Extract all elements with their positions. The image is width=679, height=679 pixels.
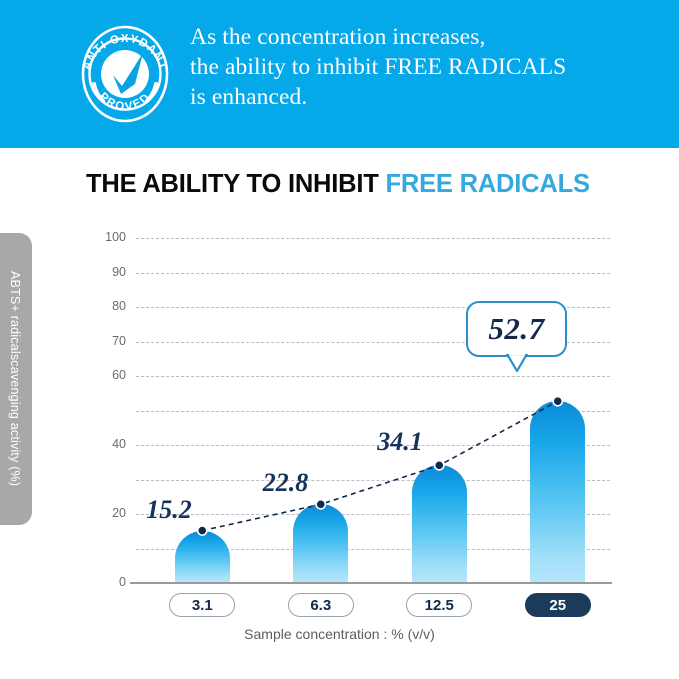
x-category-pill[interactable]: 12.5 (406, 593, 472, 617)
trend-path (202, 401, 558, 530)
x-axis-caption: Sample concentration : % (v/v) (0, 626, 679, 642)
y-tick-label: 90 (86, 265, 126, 279)
x-category-pill[interactable]: 25 (525, 593, 591, 617)
data-point-marker (198, 526, 207, 535)
data-point-marker (316, 500, 325, 509)
chart-title-plain: THE ABILITY TO INHIBIT (86, 170, 379, 198)
y-tick-label: 100 (86, 230, 126, 244)
banner-headline: As the concentration increases, the abil… (190, 22, 660, 112)
y-tick-label: 60 (86, 368, 126, 382)
value-label: 34.1 (377, 427, 423, 457)
callout-tail-icon (506, 354, 528, 372)
y-tick-label: 80 (86, 299, 126, 313)
header-banner: ANTI OXYDANT PROVED As the concentration… (0, 0, 679, 148)
y-axis-ticks: 1009080706040200 (86, 238, 126, 583)
data-point-marker (553, 397, 562, 406)
y-tick-label: 70 (86, 334, 126, 348)
value-label: 22.8 (263, 468, 309, 498)
x-category-pill[interactable]: 3.1 (169, 593, 235, 617)
banner-line-2: the ability to inhibit FREE RADICALS (190, 52, 660, 82)
callout-bubble: 52.7 (466, 301, 567, 357)
y-tick-label: 40 (86, 437, 126, 451)
x-category-pill[interactable]: 6.3 (288, 593, 354, 617)
chart-title-accent: FREE RADICALS (386, 170, 590, 198)
y-axis-caption: ABTS+ radicalscavenging activity (%) (0, 233, 32, 525)
data-point-marker (435, 461, 444, 470)
banner-line-3: is enhanced. (190, 82, 660, 112)
plot-area: 15.222.834.1 (136, 238, 610, 583)
trend-line (136, 238, 610, 583)
banner-line-1: As the concentration increases, (190, 22, 660, 52)
y-axis-caption-text: ABTS+ radicalscavenging activity (%) (0, 271, 22, 486)
x-axis-line (130, 582, 612, 584)
chart-title: THE ABILITY TO INHIBIT FREE RADICALS (86, 170, 590, 199)
anti-oxydant-seal-icon: ANTI OXYDANT PROVED (73, 22, 177, 126)
callout-value: 52.7 (488, 311, 544, 347)
y-tick-label: 20 (86, 506, 126, 520)
y-tick-label: 0 (86, 575, 126, 589)
value-label: 15.2 (146, 495, 192, 525)
